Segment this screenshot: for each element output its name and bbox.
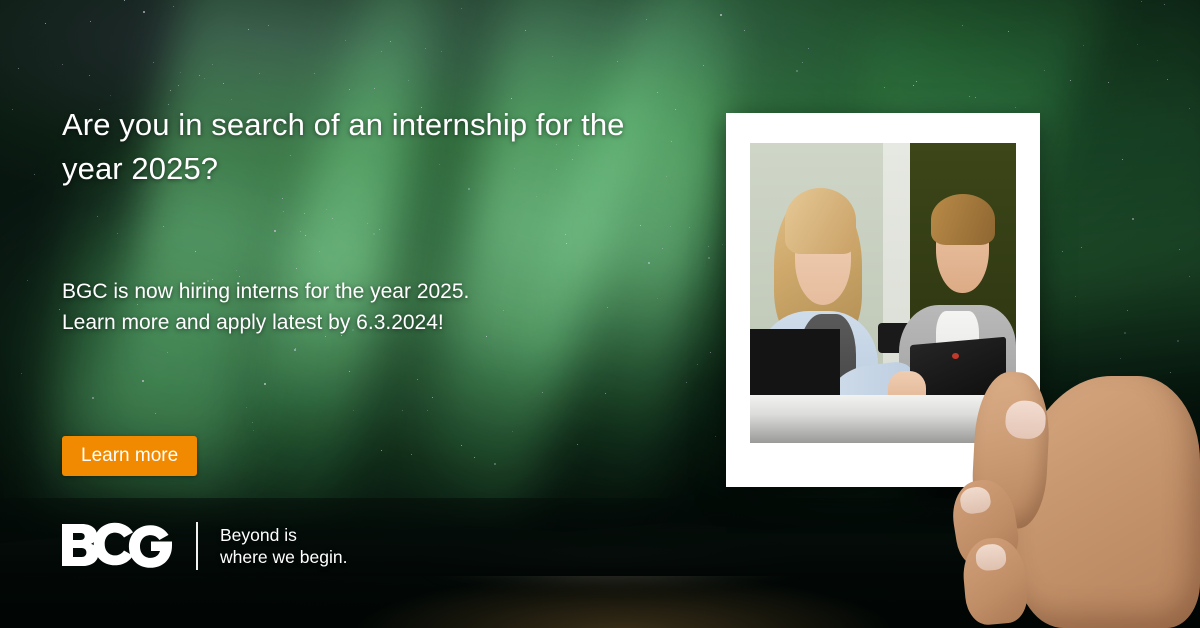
- star: [45, 23, 46, 24]
- star: [1075, 296, 1076, 297]
- star: [12, 109, 13, 110]
- hand-holding-photo: [960, 352, 1200, 628]
- photo-laptop-logo-dot: [952, 353, 959, 359]
- star: [1137, 44, 1138, 45]
- tagline-line-2: where we begin.: [220, 546, 347, 568]
- star: [1189, 108, 1190, 109]
- star: [1062, 251, 1063, 252]
- star: [1081, 247, 1082, 248]
- star: [697, 364, 698, 365]
- star: [708, 246, 709, 247]
- tagline-line-1: Beyond is: [220, 524, 347, 546]
- star: [808, 48, 809, 49]
- headline: Are you in search of an internship for t…: [62, 103, 662, 191]
- star: [913, 85, 914, 86]
- star: [1124, 332, 1126, 334]
- star: [1132, 218, 1134, 220]
- learn-more-button[interactable]: Learn more: [62, 436, 197, 476]
- bcg-wordmark-icon: [62, 522, 172, 570]
- star: [1108, 82, 1109, 83]
- star: [21, 373, 22, 374]
- star: [962, 25, 963, 26]
- star: [884, 87, 885, 88]
- star: [689, 227, 690, 228]
- star: [1179, 249, 1180, 250]
- star: [1177, 340, 1179, 342]
- body-copy-line-1: BGC is now hiring interns for the year 2…: [62, 276, 662, 307]
- star: [1083, 45, 1084, 46]
- star: [1157, 60, 1158, 61]
- star: [975, 97, 976, 98]
- star: [1167, 79, 1168, 80]
- star: [59, 309, 60, 310]
- photo-table-shadow: [750, 329, 840, 395]
- star: [1189, 276, 1190, 277]
- star: [34, 174, 35, 175]
- star: [969, 96, 970, 97]
- star: [686, 382, 687, 383]
- logo-divider: [196, 522, 198, 570]
- star: [1122, 159, 1123, 160]
- bcg-logo-lockup[interactable]: Beyond is where we begin.: [62, 518, 347, 574]
- body-copy: BGC is now hiring interns for the year 2…: [62, 276, 662, 338]
- star: [744, 30, 745, 31]
- hand-fingernail-middle: [975, 543, 1007, 572]
- photo-man-hair: [931, 194, 995, 245]
- hand-thumbnail: [1005, 400, 1047, 440]
- star: [722, 244, 723, 245]
- star: [916, 81, 917, 82]
- star: [27, 280, 28, 281]
- star: [1127, 310, 1128, 311]
- marketing-banner: Are you in search of an internship for t…: [0, 0, 1200, 628]
- star: [720, 14, 722, 16]
- star: [703, 65, 704, 66]
- star: [18, 68, 19, 69]
- star: [1070, 80, 1071, 81]
- photo-woman-hair-front: [785, 188, 857, 254]
- star: [1141, 1, 1142, 2]
- star: [1015, 107, 1016, 108]
- hand-fingernail-index: [958, 485, 992, 515]
- star: [1044, 70, 1045, 71]
- star: [1008, 31, 1009, 32]
- body-copy-line-2: Learn more and apply latest by 6.3.2024!: [62, 307, 662, 338]
- star: [802, 62, 803, 63]
- star: [715, 436, 716, 437]
- star: [710, 352, 711, 353]
- brand-tagline: Beyond is where we begin.: [220, 524, 347, 568]
- star: [796, 70, 798, 72]
- star: [1164, 4, 1165, 5]
- star: [708, 257, 710, 259]
